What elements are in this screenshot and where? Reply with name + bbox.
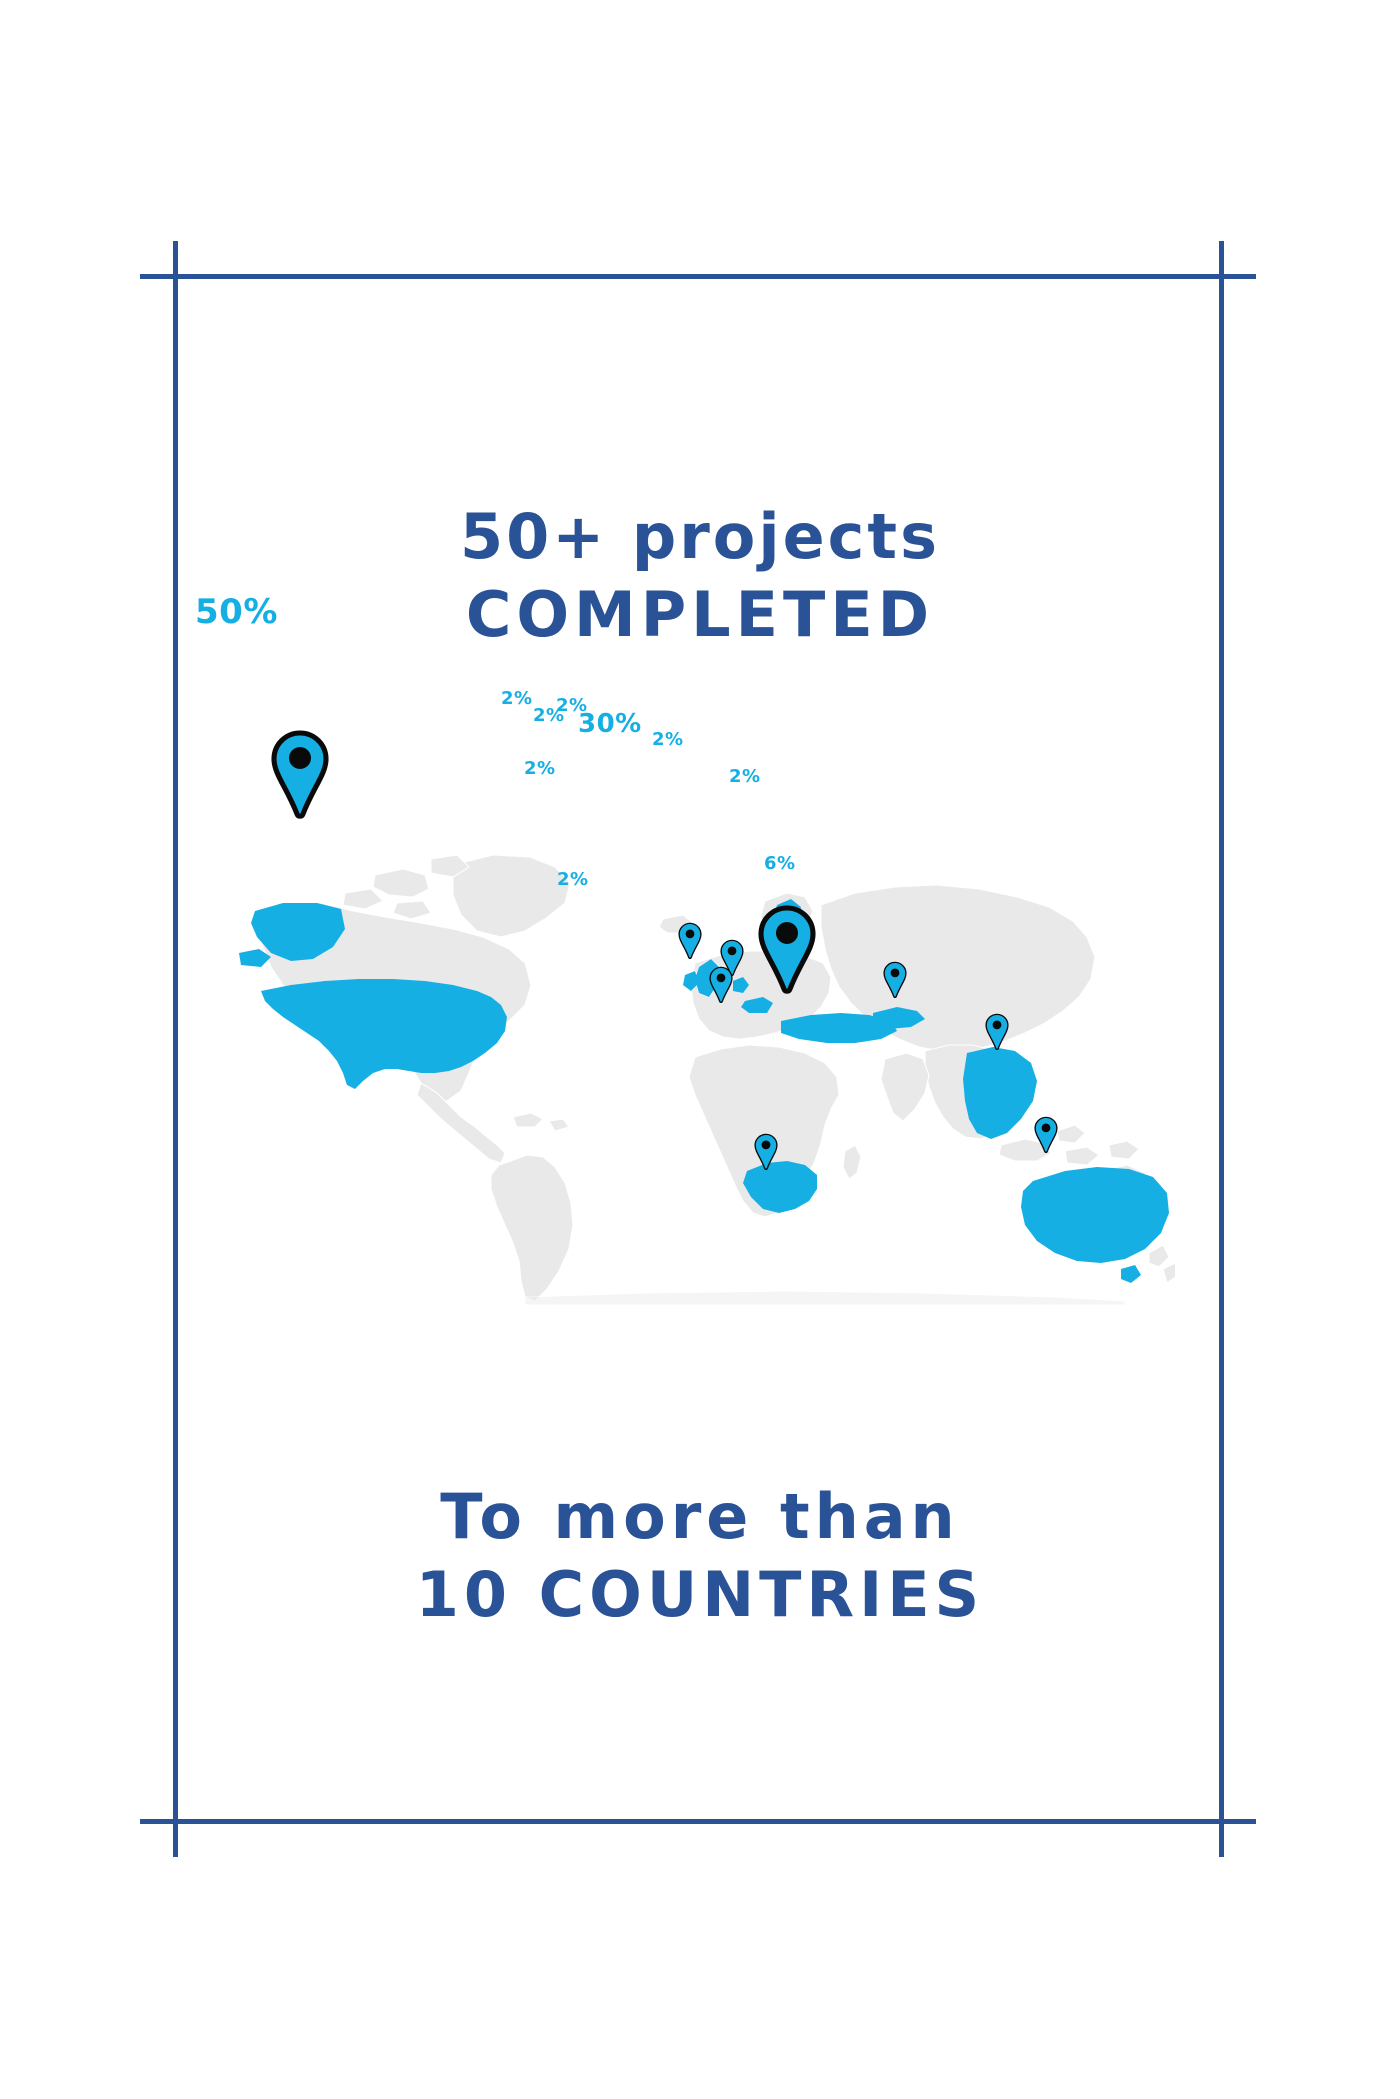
frame-mark-horizontal-bottom — [140, 1819, 1256, 1824]
map-pin-label: 2% — [524, 758, 556, 779]
map-pin-icon[interactable] — [882, 961, 908, 999]
poster-page: 50+ projects COMPLETED — [0, 0, 1400, 2099]
map-pin-icon[interactable] — [984, 1013, 1010, 1051]
map-pin-label: 2% — [501, 688, 533, 709]
map-pin-icon[interactable] — [1033, 1116, 1059, 1154]
headline-top-line-1: 50+ projects — [0, 500, 1400, 574]
map-pin-label: 2% — [652, 729, 684, 750]
map-pin-label: 2% — [729, 766, 761, 787]
headline-bottom-line-2: 10 COUNTRIES — [0, 1558, 1400, 1632]
map-pin-label: 6% — [764, 853, 796, 874]
map-pin-icon[interactable] — [753, 1133, 779, 1171]
map-pin-label: 30% — [578, 709, 642, 739]
map-pin-icon[interactable] — [677, 922, 703, 960]
world-map-svg — [225, 845, 1175, 1305]
map-pin-label: 50% — [195, 592, 278, 632]
frame-mark-horizontal-top — [140, 274, 1256, 279]
headline-bottom-line-1: To more than — [0, 1480, 1400, 1554]
world-map — [225, 845, 1175, 1305]
map-pin-icon[interactable] — [269, 730, 331, 820]
map-pin-label: 2% — [557, 869, 589, 890]
map-pin-icon[interactable] — [708, 966, 734, 1004]
map-pin-icon[interactable] — [756, 905, 818, 995]
